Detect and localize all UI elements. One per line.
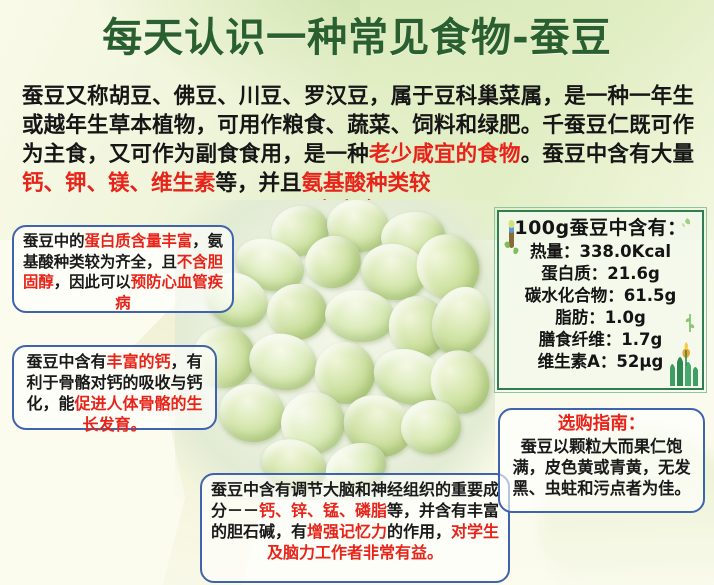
intro-text-part2: 。蚕豆中含有大量 xyxy=(521,142,694,167)
nutrition-label: 蛋白质： xyxy=(541,264,607,283)
intro-highlight-2: 钙、钾、镁、维生素 xyxy=(22,171,216,196)
callout-brain-seg4: 增强记忆力 xyxy=(307,522,387,541)
nutrition-label: 脂肪： xyxy=(555,308,605,327)
callout-brain-seg5: 的作用， xyxy=(387,522,451,541)
nutrition-row: 维生素A：52μg xyxy=(505,351,696,373)
callout-brain-seg2: 钙、锌、锰、磷脂 xyxy=(259,501,387,520)
nutrition-label: 膳食纤维： xyxy=(539,330,622,349)
nutrition-row: 脂肪：1.0g xyxy=(505,307,696,329)
callout-protein-seg5: ，因此可以 xyxy=(54,273,131,291)
buying-guide-body: 蚕豆以颗粒大而果仁饱满，皮色黄或青黄，无发黑、虫蛀和污点者为佳。 xyxy=(512,437,690,498)
nutrition-panel: 100g蚕豆中含有： 热量：338.0Kcal 蛋白质：21.6g 碳水化合物：… xyxy=(497,210,704,390)
buying-guide-heading: 选购指南： xyxy=(505,412,698,436)
nutrition-label: 热量： xyxy=(530,242,580,261)
nutrition-value: 338.0Kcal xyxy=(579,242,671,261)
intro-highlight-1: 老少咸宜的食物 xyxy=(369,142,521,167)
callout-calcium: 蚕豆中含有丰富的钙，有利于骨骼对钙的吸收与钙化，能促进人体骨骼的生长发育。 xyxy=(12,345,217,430)
nutrition-row: 热量：338.0Kcal xyxy=(505,241,696,263)
callout-calcium-seg1: 蚕豆中含有 xyxy=(26,352,106,371)
poster-root: 每天认识一种常见食物-蚕豆 蚕豆又称胡豆、佛豆、川豆、罗汉豆，属于豆科巢菜属，是… xyxy=(0,0,714,585)
nutrition-row: 膳食纤维：1.7g xyxy=(505,329,696,351)
callout-protein: 蚕豆中的蛋白质含量丰富，氨基酸种类较为齐全，且不含胆固醇，因此可以预防心血管疾病 xyxy=(12,225,234,313)
nutrition-label: 维生素A： xyxy=(538,352,617,371)
callout-protein-seg2: 蛋白质含量丰富 xyxy=(85,232,193,250)
nutrition-heading: 100g蚕豆中含有： xyxy=(505,216,696,241)
nutrition-row: 碳水化合物：61.5g xyxy=(505,285,696,307)
callout-protein-seg1: 蚕豆中的 xyxy=(23,232,85,250)
nutrition-label: 碳水化合物： xyxy=(525,286,624,305)
callout-buying-guide: 选购指南：蚕豆以颗粒大而果仁饱满，皮色黄或青黄，无发黑、虫蛀和污点者为佳。 xyxy=(498,408,705,513)
callout-calcium-seg2: 丰富的钙 xyxy=(106,352,170,371)
nutrition-row: 蛋白质：21.6g xyxy=(505,263,696,285)
nutrition-value: 1.0g xyxy=(605,308,646,327)
callout-protein-seg6: 预防心血管疾病 xyxy=(115,273,223,312)
nutrition-value: 21.6g xyxy=(607,264,660,283)
nutrition-value: 1.7g xyxy=(621,330,662,349)
intro-text-part3: 等，并且 xyxy=(216,171,302,196)
page-title: 每天认识一种常见食物-蚕豆 xyxy=(0,14,714,62)
intro-highlight-3: 氨基酸种类较 xyxy=(302,171,431,196)
callout-calcium-seg4: 促进人体骨骼的生长发育。 xyxy=(75,394,203,434)
callout-brain-nutrients: 蚕豆中含有调节大脑和神经组织的重要成分－－钙、锌、锰、磷脂等，并含有丰富的胆石碱… xyxy=(200,473,510,583)
nutrition-value: 61.5g xyxy=(624,286,677,305)
nutrition-value: 52μg xyxy=(616,352,663,371)
